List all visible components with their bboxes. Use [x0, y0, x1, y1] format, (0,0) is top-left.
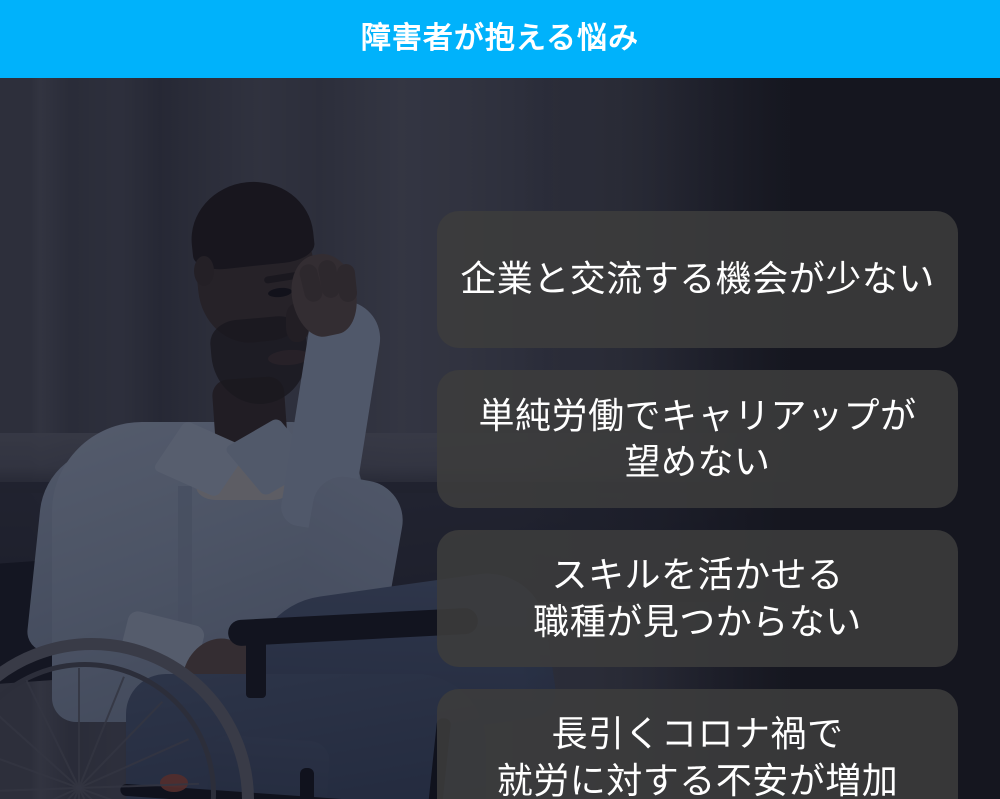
- issue-card-3-text: スキルを活かせる 職種が見つからない: [533, 552, 862, 644]
- issue-card-3[interactable]: スキルを活かせる 職種が見つからない: [437, 530, 958, 667]
- issue-card-4-text: 長引くコロナ禍で 就労に対する不安が増加: [497, 711, 899, 799]
- issue-card-1[interactable]: 企業と交流する機会が少ない: [437, 211, 958, 348]
- issue-card-4[interactable]: 長引くコロナ禍で 就労に対する不安が増加: [437, 689, 958, 799]
- header-bar: 障害者が抱える悩み: [0, 0, 1000, 78]
- issue-card-list: 企業と交流する機会が少ない 単純労働でキャリアップが 望めない スキルを活かせる…: [437, 211, 958, 799]
- page-title: 障害者が抱える悩み: [361, 24, 639, 54]
- infographic-root: 障害者が抱える悩み: [0, 0, 1000, 799]
- issue-card-2-text: 単純労働でキャリアップが 望めない: [478, 393, 916, 485]
- photo-stage: 企業と交流する機会が少ない 単純労働でキャリアップが 望めない スキルを活かせる…: [0, 78, 1000, 799]
- issue-card-2[interactable]: 単純労働でキャリアップが 望めない: [437, 370, 958, 508]
- issue-card-1-text: 企業と交流する機会が少ない: [460, 256, 935, 302]
